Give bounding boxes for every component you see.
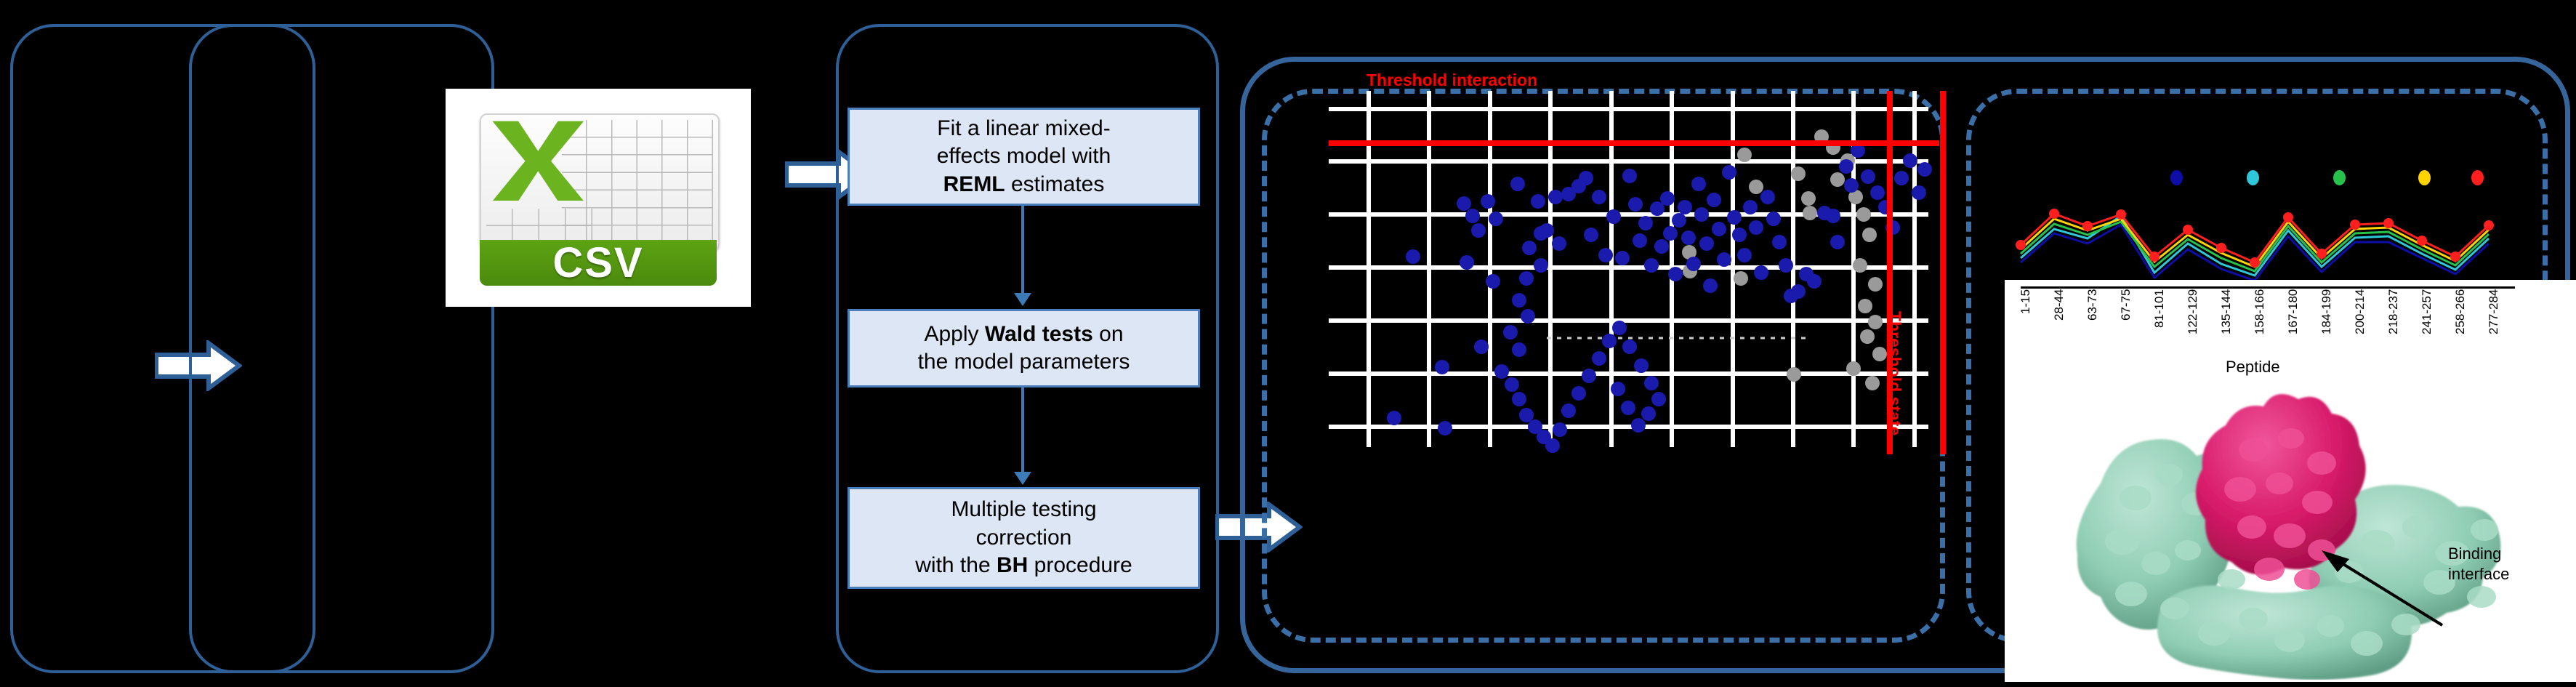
binding-interface-label: Binding interface xyxy=(2448,544,2509,584)
protein-structure-image xyxy=(2013,382,2551,680)
peptide-xtick: 135-144 xyxy=(2219,289,2253,351)
peptide-ytick-0: 0.0 xyxy=(1987,258,2005,273)
csv-spreadsheet-icon xyxy=(480,113,719,251)
step-correction-text: Multiple testingcorrectionwith the BH pr… xyxy=(915,496,1132,579)
peptide-xtick: 258-266 xyxy=(2453,289,2487,351)
volcano-plot xyxy=(1329,91,1954,534)
connector-fit-to-wald xyxy=(1021,206,1024,294)
excel-x-glyph xyxy=(488,118,588,201)
peptide-xtick: 67-75 xyxy=(2119,289,2152,351)
binding-interface-line2: interface xyxy=(2448,564,2509,584)
binding-interface-line1: Binding xyxy=(2448,544,2509,564)
legend-marker-3 xyxy=(2418,170,2431,185)
legend-marker-2 xyxy=(2333,170,2346,185)
step-wald-box: Apply Wald tests onthe model parameters xyxy=(848,309,1200,387)
peptide-xtick-labels: 1-15 28-44 63-73 67-75 81-101 122-129 13… xyxy=(2018,289,2520,351)
legend-marker-1 xyxy=(2247,170,2259,185)
peptide-xtick: 277-284 xyxy=(2487,289,2520,351)
peptide-xtick: 1-15 xyxy=(2018,289,2052,351)
peptide-xtick: 184-199 xyxy=(2319,289,2353,351)
threshold-interaction-label: Threshold interaction xyxy=(1367,71,1537,90)
step-fit-text: Fit a linear mixed-effects model withREM… xyxy=(937,115,1111,198)
step-correction-box: Multiple testingcorrectionwith the BH pr… xyxy=(848,487,1200,589)
figure-root: CSV Fit a linear mixed-effects model wit… xyxy=(0,0,2576,687)
peptide-xtick: 200-214 xyxy=(2353,289,2386,351)
peptide-xaxis-line xyxy=(2021,286,2515,289)
peptide-xtick: 122-129 xyxy=(2186,289,2219,351)
peptide-xtick: 81-101 xyxy=(2152,289,2186,351)
csv-file-icon: CSV xyxy=(446,89,751,307)
threshold-state-label: Threshold state xyxy=(1885,311,1904,435)
peptide-xtick: 158-166 xyxy=(2253,289,2286,351)
step-wald-text: Apply Wald tests onthe model parameters xyxy=(918,321,1130,377)
csv-format-label: CSV xyxy=(552,238,643,287)
csv-format-band: CSV xyxy=(480,240,716,286)
peptide-xtick: 218-237 xyxy=(2386,289,2420,351)
connector-wald-to-correction xyxy=(1021,387,1024,473)
legend-marker-4 xyxy=(2471,170,2484,185)
step-fit-box: Fit a linear mixed-effects model withREM… xyxy=(848,108,1200,206)
legend-marker-0 xyxy=(2170,170,2183,185)
peptide-line-chart xyxy=(2006,127,2508,284)
peptide-xtick: 167-180 xyxy=(2286,289,2319,351)
peptide-xtick: 241-257 xyxy=(2420,289,2453,351)
peptide-xtick: 28-44 xyxy=(2052,289,2085,351)
peptide-xtick: 63-73 xyxy=(2085,289,2119,351)
peptide-xaxis-title: Peptide xyxy=(2226,358,2280,377)
